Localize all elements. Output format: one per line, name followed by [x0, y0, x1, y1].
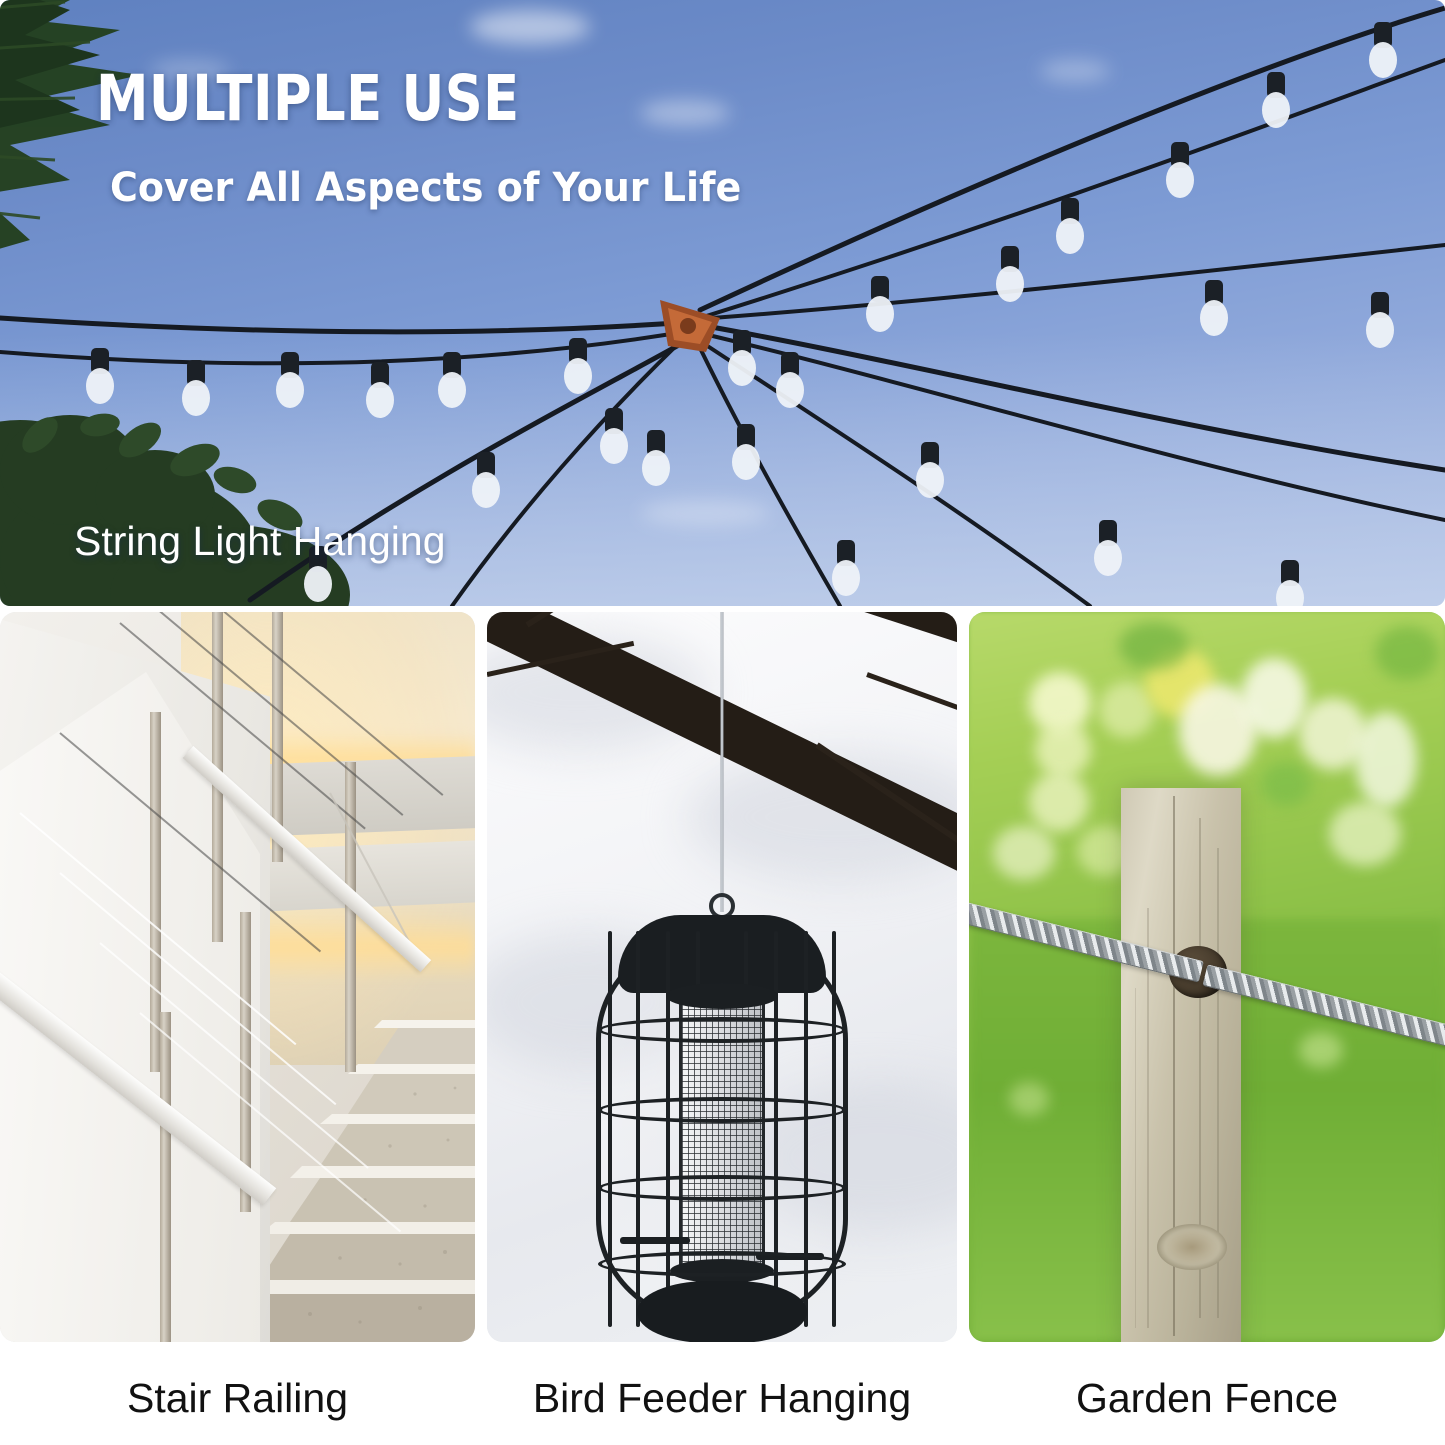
- hero-caption-string-light: String Light Hanging: [74, 518, 446, 565]
- caption-garden-fence: Garden Fence: [969, 1352, 1445, 1445]
- panel-bird-feeder: [487, 612, 957, 1342]
- cable-hub: [660, 300, 720, 352]
- bokeh-highlight: [1299, 1032, 1343, 1068]
- bokeh-highlight: [1241, 658, 1307, 738]
- feeder-dome-lid: [618, 915, 826, 993]
- hero-image: MULTIPLE USE Cover All Aspects of Your L…: [0, 0, 1445, 606]
- feeder-perch: [620, 1237, 690, 1244]
- bokeh-highlight: [993, 826, 1055, 880]
- bokeh-highlight: [1261, 762, 1311, 806]
- caption-bird-feeder: Bird Feeder Hanging: [487, 1352, 957, 1445]
- hanging-steel-cable: [721, 612, 724, 912]
- bokeh-highlight: [1355, 712, 1417, 808]
- cage-ring: [598, 1097, 846, 1123]
- caption-stair-railing: Stair Railing: [0, 1352, 475, 1445]
- feeder-base-dish: [637, 1281, 807, 1342]
- seed-mesh-tube: [679, 1003, 765, 1275]
- bokeh-highlight: [1029, 772, 1089, 832]
- railing-post: [160, 1012, 171, 1342]
- tube-top-cap: [666, 983, 778, 1009]
- wood-knot: [1157, 1224, 1227, 1270]
- hero-subtitle: Cover All Aspects of Your Life: [110, 165, 741, 211]
- panel-stair-railing: [0, 612, 475, 1342]
- wood-grain: [1147, 908, 1149, 1328]
- use-case-panel-row: [0, 612, 1445, 1342]
- cage-ring: [598, 1017, 846, 1043]
- hero-title: MULTIPLE USE: [96, 62, 520, 135]
- cage-ring: [598, 1175, 846, 1201]
- panel-garden-fence: [969, 612, 1445, 1342]
- railing-post: [345, 762, 356, 1072]
- bokeh-highlight: [1375, 626, 1439, 680]
- caged-bird-feeder: [596, 907, 848, 1337]
- bokeh-highlight: [1009, 1082, 1049, 1116]
- bokeh-highlight: [1035, 722, 1091, 778]
- cage-ring: [598, 1251, 846, 1277]
- panel-captions: Stair Railing Bird Feeder Hanging Garden…: [0, 1352, 1445, 1445]
- wood-grain: [1135, 988, 1136, 1328]
- bokeh-highlight: [1329, 802, 1401, 866]
- bokeh-highlight: [1119, 622, 1189, 670]
